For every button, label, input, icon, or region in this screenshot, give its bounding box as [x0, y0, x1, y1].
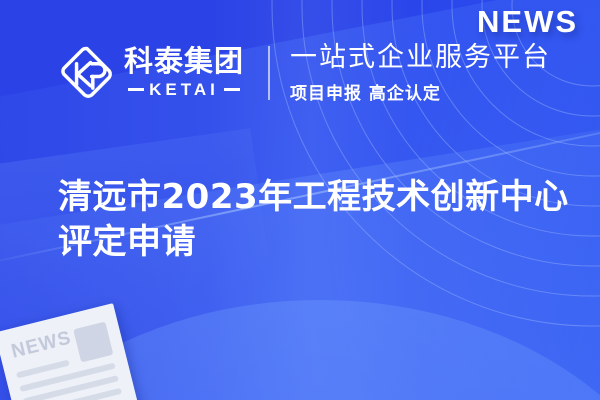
ketai-monogram-icon — [58, 44, 116, 102]
banner-header: 科泰集团 KETAI 一站式企业服务平台 项目申报 高企认定 — [0, 30, 600, 116]
news-watermark: NEWS — [477, 4, 578, 40]
brand-wordmark: 科泰集团 KETAI — [124, 46, 244, 99]
brand-name-en-row: KETAI — [124, 80, 244, 100]
dash-right-icon — [224, 88, 240, 91]
article-title: 清远市2023年工程技术创新中心评定申请 — [58, 175, 570, 265]
slogan-primary: 一站式企业服务平台 — [290, 42, 551, 73]
slogan-block: 一站式企业服务平台 项目申报 高企认定 — [290, 42, 551, 103]
dash-left-icon — [128, 88, 144, 91]
slogan-secondary: 项目申报 高企认定 — [290, 79, 551, 104]
brand-logo[interactable]: 科泰集团 KETAI — [58, 44, 244, 102]
news-banner: 科泰集团 KETAI 一站式企业服务平台 项目申报 高企认定 NEWS 清远市2… — [0, 0, 600, 400]
brand-name-cn: 科泰集团 — [124, 46, 244, 76]
header-divider — [268, 46, 270, 100]
brand-name-en: KETAI — [149, 80, 219, 100]
